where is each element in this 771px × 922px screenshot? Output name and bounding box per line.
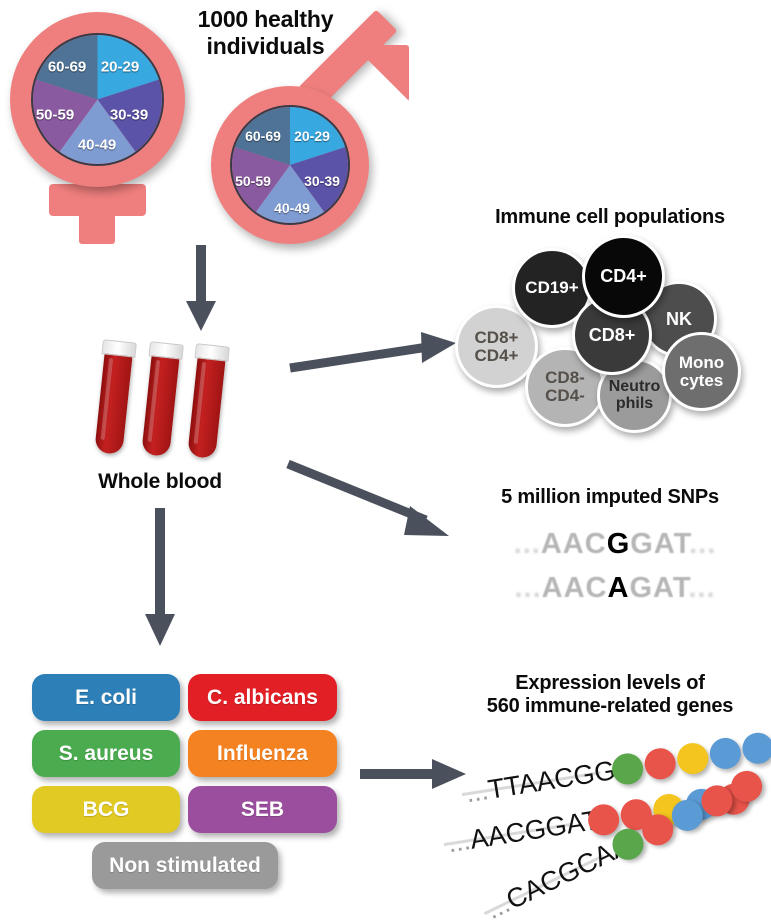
male-symbol: 20-29 30-39 40-49 50-59 60-69 — [205, 45, 410, 245]
expression-strands: ...TTAACGG ...AACGGAT ...CACGCAA — [450, 735, 771, 920]
snp-prefix: ... — [514, 528, 541, 560]
strand-bases: TTAACGG — [486, 755, 618, 805]
stimulus-label: Non stimulated — [109, 854, 261, 878]
strand-sequence: ...TTAACGG — [464, 755, 618, 809]
cell-label: CD19+ — [525, 279, 578, 297]
tube-blood — [141, 354, 179, 456]
stimulus-label: C. albicans — [207, 686, 318, 710]
stimulus-label: S. aureus — [59, 742, 154, 766]
arrow-cohort-to-blood — [183, 245, 219, 333]
section-title-expression: Expression levels of 560 immune-related … — [455, 672, 765, 718]
arrow-blood-to-snps — [286, 458, 466, 548]
section-title-immune-cells: Immune cell populations — [450, 206, 770, 229]
stimulus-non-stimulated[interactable]: Non stimulated — [92, 842, 278, 889]
snp-prefix: ... — [515, 572, 542, 604]
stimulus-label: Influenza — [217, 742, 308, 766]
tube-blood — [94, 352, 132, 454]
cell-label: CD4+ — [600, 267, 647, 286]
cell-monocytes: Mono cytes — [662, 332, 741, 411]
age-pie-female — [31, 33, 164, 166]
immune-cell-cluster: CD8+ CD4+ CD19+ CD4+ NK CD8+ CD8- CD4- N… — [455, 235, 770, 425]
snp-sequence-row: ...AACGGAT... — [470, 528, 760, 561]
blood-tubes — [95, 337, 255, 462]
stimulus-s-aureus[interactable]: S. aureus — [32, 730, 180, 777]
cell-label: Mono cytes — [679, 354, 724, 389]
stimulus-bcg[interactable]: BCG — [32, 786, 180, 833]
strand-bead — [642, 746, 677, 781]
cell-label: CD8- CD4- — [545, 369, 585, 404]
blood-tube — [138, 341, 184, 460]
female-symbol: 20-29 30-39 40-49 50-59 60-69 — [10, 12, 185, 237]
stimulus-c-albicans[interactable]: C. albicans — [188, 674, 337, 721]
arrow-blood-to-stimuli — [142, 508, 178, 648]
stimulus-label: E. coli — [75, 686, 137, 710]
label-whole-blood: Whole blood — [60, 470, 260, 494]
cell-label: Neutro phils — [609, 379, 661, 412]
snp-sequence-row: ...AACAGAT... — [470, 572, 760, 605]
snp-right: GAT — [630, 528, 689, 560]
strand-bead — [740, 731, 771, 766]
stimulus-label: SEB — [241, 798, 284, 822]
stimulus-label: BCG — [83, 798, 130, 822]
snp-suffix: ... — [688, 572, 715, 604]
age-pie-male-svg — [232, 107, 348, 223]
arrow-blood-to-immune-cells — [288, 330, 463, 380]
snp-sequences: ...AACGGAT... ...AACAGAT... — [470, 528, 760, 618]
blood-tube — [91, 339, 137, 458]
cell-cd4p: CD4+ — [582, 235, 665, 318]
stimuli-panel: E. coli C. albicans S. aureus Influenza … — [32, 674, 352, 894]
stimulus-e-coli[interactable]: E. coli — [32, 674, 180, 721]
age-pie-female-svg — [33, 35, 162, 164]
snp-left: AAC — [541, 528, 607, 560]
snp-left: AAC — [542, 572, 608, 604]
tube-blood — [187, 356, 225, 458]
cell-label: CD8+ — [589, 326, 636, 345]
blood-tube — [184, 343, 230, 462]
snp-right: GAT — [629, 572, 688, 604]
age-pie-male — [230, 105, 350, 225]
stimulus-influenza[interactable]: Influenza — [188, 730, 337, 777]
snp-allele: G — [607, 528, 631, 560]
section-title-snps: 5 million imputed SNPs — [460, 486, 760, 509]
stimulus-seb[interactable]: SEB — [188, 786, 337, 833]
female-crossbar — [49, 184, 146, 216]
strand-bead — [675, 741, 710, 776]
cell-label: CD8+ CD4+ — [475, 329, 519, 364]
snp-allele: A — [608, 572, 630, 604]
snp-suffix: ... — [689, 528, 716, 560]
figure-canvas: 1000 healthy individuals Immune cell pop… — [0, 0, 771, 922]
strand-bead — [708, 736, 743, 771]
cell-label: NK — [666, 310, 692, 329]
